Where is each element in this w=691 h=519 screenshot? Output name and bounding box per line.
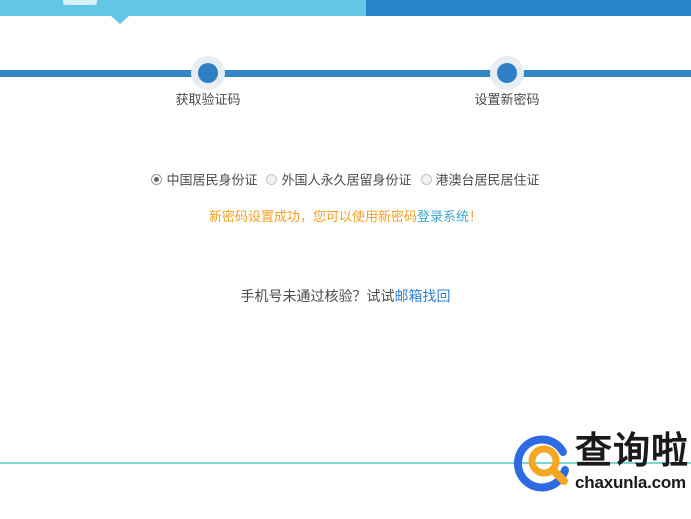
top-bar-left-segment: [0, 0, 366, 16]
login-system-link[interactable]: 登录系统: [417, 209, 469, 224]
step-progress: 获取验证码 设置新密码: [0, 40, 691, 120]
step-progress-track: [0, 70, 691, 77]
chaxunla-search-logo-icon: [513, 432, 577, 496]
watermark-brand-name: 查询啦: [575, 428, 691, 473]
watermark-domain: chaxunla.com: [575, 473, 691, 493]
step-item-get-code[interactable]: 获取验证码: [128, 40, 288, 108]
success-message-suffix: ！: [469, 209, 482, 224]
step-dot-icon: [198, 63, 218, 83]
success-message-prefix: 新密码设置成功，您可以使用新密码: [209, 209, 417, 224]
step-dot-icon: [497, 63, 517, 83]
top-bar-right-segment: [366, 0, 691, 16]
top-bar: [0, 0, 691, 16]
step-dot-wrap: [427, 40, 587, 90]
radio-option-label: 港澳台居民居住证: [436, 173, 540, 188]
radio-mark-icon[interactable]: [421, 174, 432, 185]
radio-mark-icon[interactable]: [151, 174, 162, 185]
radio-option-hk-macau-taiwan-residence[interactable]: 港澳台居民居住证: [421, 170, 540, 191]
step-dot-wrap: [128, 40, 288, 90]
dropdown-pointer-icon: [111, 16, 129, 24]
email-recover-link[interactable]: 邮箱找回: [395, 288, 451, 304]
step-label: 获取验证码: [128, 92, 288, 108]
radio-option-mainland-id[interactable]: 中国居民身份证: [151, 170, 257, 191]
radio-option-label: 中国居民身份证: [166, 173, 257, 188]
step-item-set-password[interactable]: 设置新密码: [427, 40, 587, 108]
step-label: 设置新密码: [427, 92, 587, 108]
recover-hint: 手机号未通过核验？试试邮箱找回: [0, 286, 691, 306]
browser-tab-icon[interactable]: [63, 0, 97, 5]
recover-hint-text: 手机号未通过核验？试试: [241, 288, 395, 304]
radio-mark-icon[interactable]: [266, 174, 277, 185]
watermark-text: 查询啦 chaxunla.com: [575, 428, 691, 493]
main-content: 中国居民身份证 外国人永久居留身份证 港澳台居民居住证 新密码设置成功，您可以使…: [0, 170, 691, 306]
radio-option-foreign-permanent-residence[interactable]: 外国人永久居留身份证: [266, 170, 411, 191]
id-type-radio-group: 中国居民身份证 外国人永久居留身份证 港澳台居民居住证: [0, 170, 691, 191]
radio-option-label: 外国人永久居留身份证: [281, 173, 411, 188]
watermark-logo: 查询啦 chaxunla.com: [513, 428, 691, 502]
success-message: 新密码设置成功，您可以使用新密码登录系统！: [0, 208, 691, 226]
